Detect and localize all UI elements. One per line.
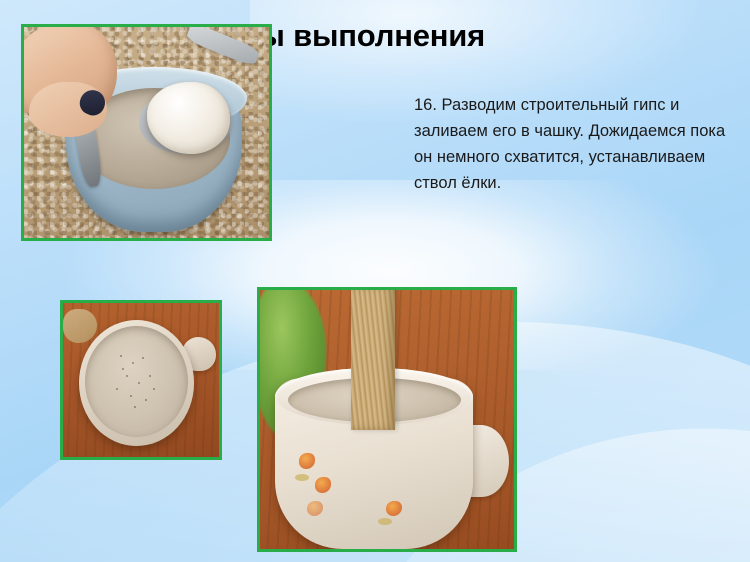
- gypsum-powder: [147, 82, 230, 154]
- step-description-text: 16. Разводим строительный гипс и заливае…: [414, 92, 734, 196]
- photo-plaster-mixing-bucket: [21, 24, 272, 241]
- plaster-surface: [85, 326, 188, 437]
- photo-tree-trunk-set-in-plaster: [257, 287, 517, 552]
- presentation-slide: Этапы выполнения 16. Разводим строительн…: [0, 0, 750, 562]
- rope-wrapped-tree-trunk: [351, 287, 394, 430]
- photo-cup-filled-with-plaster: [60, 300, 222, 460]
